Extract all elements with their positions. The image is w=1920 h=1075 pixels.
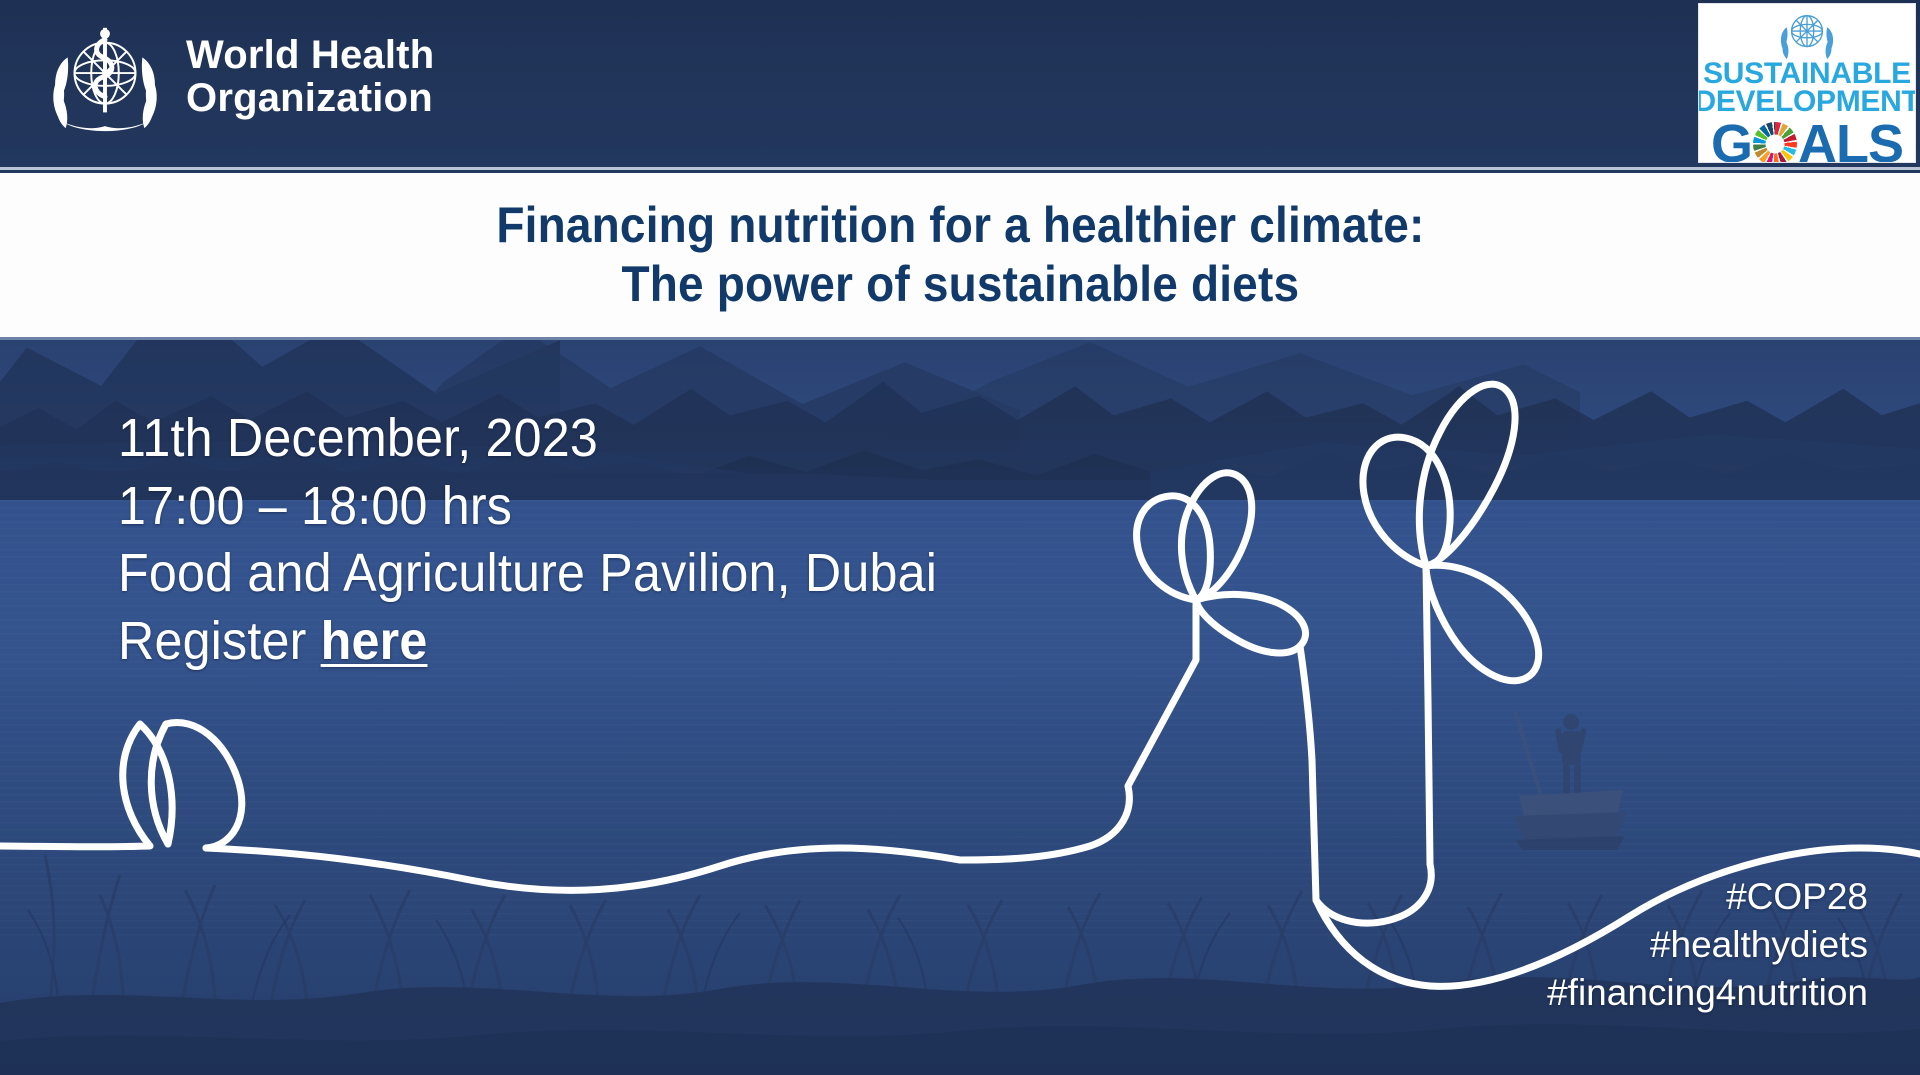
who-header-bar: World Health Organization xyxy=(0,0,1920,170)
un-emblem-icon xyxy=(1778,8,1836,60)
sdg-color-wheel-icon xyxy=(1753,122,1797,163)
hashtag-item: #financing4nutrition xyxy=(1547,969,1868,1017)
sdg-goals-g: G xyxy=(1711,117,1752,163)
sdg-goals-als: ALS xyxy=(1798,117,1903,163)
sdg-line-1: SUSTAINABLE xyxy=(1703,60,1911,88)
page-title-line-1: Financing nutrition for a healthier clim… xyxy=(496,196,1424,255)
event-register-row: Register here xyxy=(118,608,937,676)
sdg-goals-wordmark: G ALS xyxy=(1711,117,1903,163)
sdg-logo: SUSTAINABLE DEVELOPMENT G ALS xyxy=(1698,3,1916,163)
event-venue: Food and Agriculture Pavilion, Dubai xyxy=(118,540,937,608)
who-logo-lockup: World Health Organization xyxy=(46,18,434,136)
event-poster: World Health Organization xyxy=(0,0,1920,1075)
page-title-line-2: The power of sustainable diets xyxy=(621,255,1299,314)
hashtag-block: #COP28 #healthydiets #financing4nutritio… xyxy=(1547,873,1868,1017)
event-time: 17:00 – 18:00 hrs xyxy=(118,473,937,541)
register-here-link[interactable]: here xyxy=(321,611,428,671)
who-emblem-icon xyxy=(46,18,164,136)
event-date: 11th December, 2023 xyxy=(118,405,937,473)
who-org-name: World Health Organization xyxy=(186,34,434,120)
register-label: Register xyxy=(118,611,321,671)
hashtag-item: #COP28 xyxy=(1547,873,1868,921)
title-band: Financing nutrition for a healthier clim… xyxy=(0,173,1920,340)
event-details: 11th December, 2023 17:00 – 18:00 hrs Fo… xyxy=(118,405,937,675)
sdg-line-2: DEVELOPMENT xyxy=(1698,88,1916,116)
hashtag-item: #healthydiets xyxy=(1547,921,1868,969)
